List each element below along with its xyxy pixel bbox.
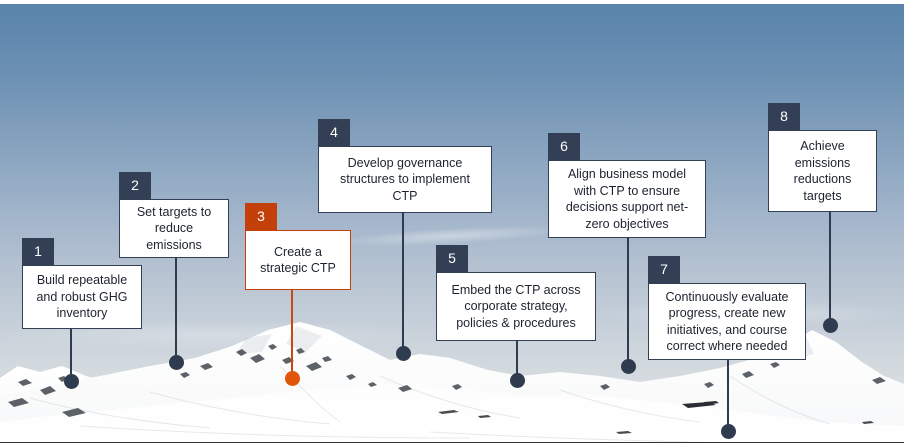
connector-stem-2	[175, 258, 177, 362]
step-number-badge-1: 1	[22, 238, 54, 265]
connector-dot-4	[396, 346, 411, 361]
connector-stem-3	[291, 290, 293, 378]
step-number-badge-8: 8	[768, 103, 800, 130]
step-text-2: Set targets to reduce emissions	[128, 204, 220, 254]
connector-dot-2	[169, 355, 184, 370]
step-callout-7[interactable]: 7Continuously evaluate progress, create …	[648, 256, 806, 360]
infographic-canvas: 1Build repeatable and robust GHG invento…	[0, 0, 904, 446]
connector-dot-5	[510, 373, 525, 388]
step-card-2: Set targets to reduce emissions	[119, 199, 229, 258]
step-callout-3[interactable]: 3Create a strategic CTP	[245, 203, 351, 290]
step-number-badge-2: 2	[119, 172, 151, 199]
step-card-1: Build repeatable and robust GHG inventor…	[22, 265, 142, 329]
step-number-badge-7: 7	[648, 256, 680, 283]
step-text-5: Embed the CTP across corporate strategy,…	[445, 282, 587, 332]
step-card-7: Continuously evaluate progress, create n…	[648, 283, 806, 360]
step-callout-4[interactable]: 4Develop governance structures to implem…	[318, 119, 492, 213]
step-text-7: Continuously evaluate progress, create n…	[657, 289, 797, 355]
step-callout-5[interactable]: 5Embed the CTP across corporate strategy…	[436, 245, 596, 341]
step-callout-6[interactable]: 6Align business model with CTP to ensure…	[548, 133, 706, 238]
connector-stem-8	[829, 212, 831, 325]
connector-dot-7	[721, 424, 736, 439]
step-text-4: Develop governance structures to impleme…	[327, 155, 483, 205]
connector-dot-6	[621, 359, 636, 374]
step-text-1: Build repeatable and robust GHG inventor…	[31, 272, 133, 322]
connector-dot-3	[285, 371, 300, 386]
connector-stem-6	[627, 238, 629, 366]
step-card-6: Align business model with CTP to ensure …	[548, 160, 706, 238]
connector-dot-8	[823, 318, 838, 333]
step-card-3: Create a strategic CTP	[245, 230, 351, 290]
step-number-badge-4: 4	[318, 119, 350, 146]
step-card-4: Develop governance structures to impleme…	[318, 146, 492, 213]
step-number-badge-6: 6	[548, 133, 580, 160]
top-white-border	[0, 0, 904, 4]
step-callout-8[interactable]: 8Achieve emissions reductions targets	[768, 103, 877, 212]
step-number-badge-5: 5	[436, 245, 468, 272]
step-card-8: Achieve emissions reductions targets	[768, 130, 877, 212]
step-number-badge-3: 3	[245, 203, 277, 230]
connector-stem-7	[727, 360, 729, 431]
step-callout-2[interactable]: 2Set targets to reduce emissions	[119, 172, 229, 258]
connector-dot-1	[64, 374, 79, 389]
step-text-8: Achieve emissions reductions targets	[777, 138, 868, 204]
step-text-3: Create a strategic CTP	[254, 244, 342, 277]
connector-stem-4	[402, 213, 404, 353]
step-card-5: Embed the CTP across corporate strategy,…	[436, 272, 596, 341]
step-text-6: Align business model with CTP to ensure …	[557, 166, 697, 232]
